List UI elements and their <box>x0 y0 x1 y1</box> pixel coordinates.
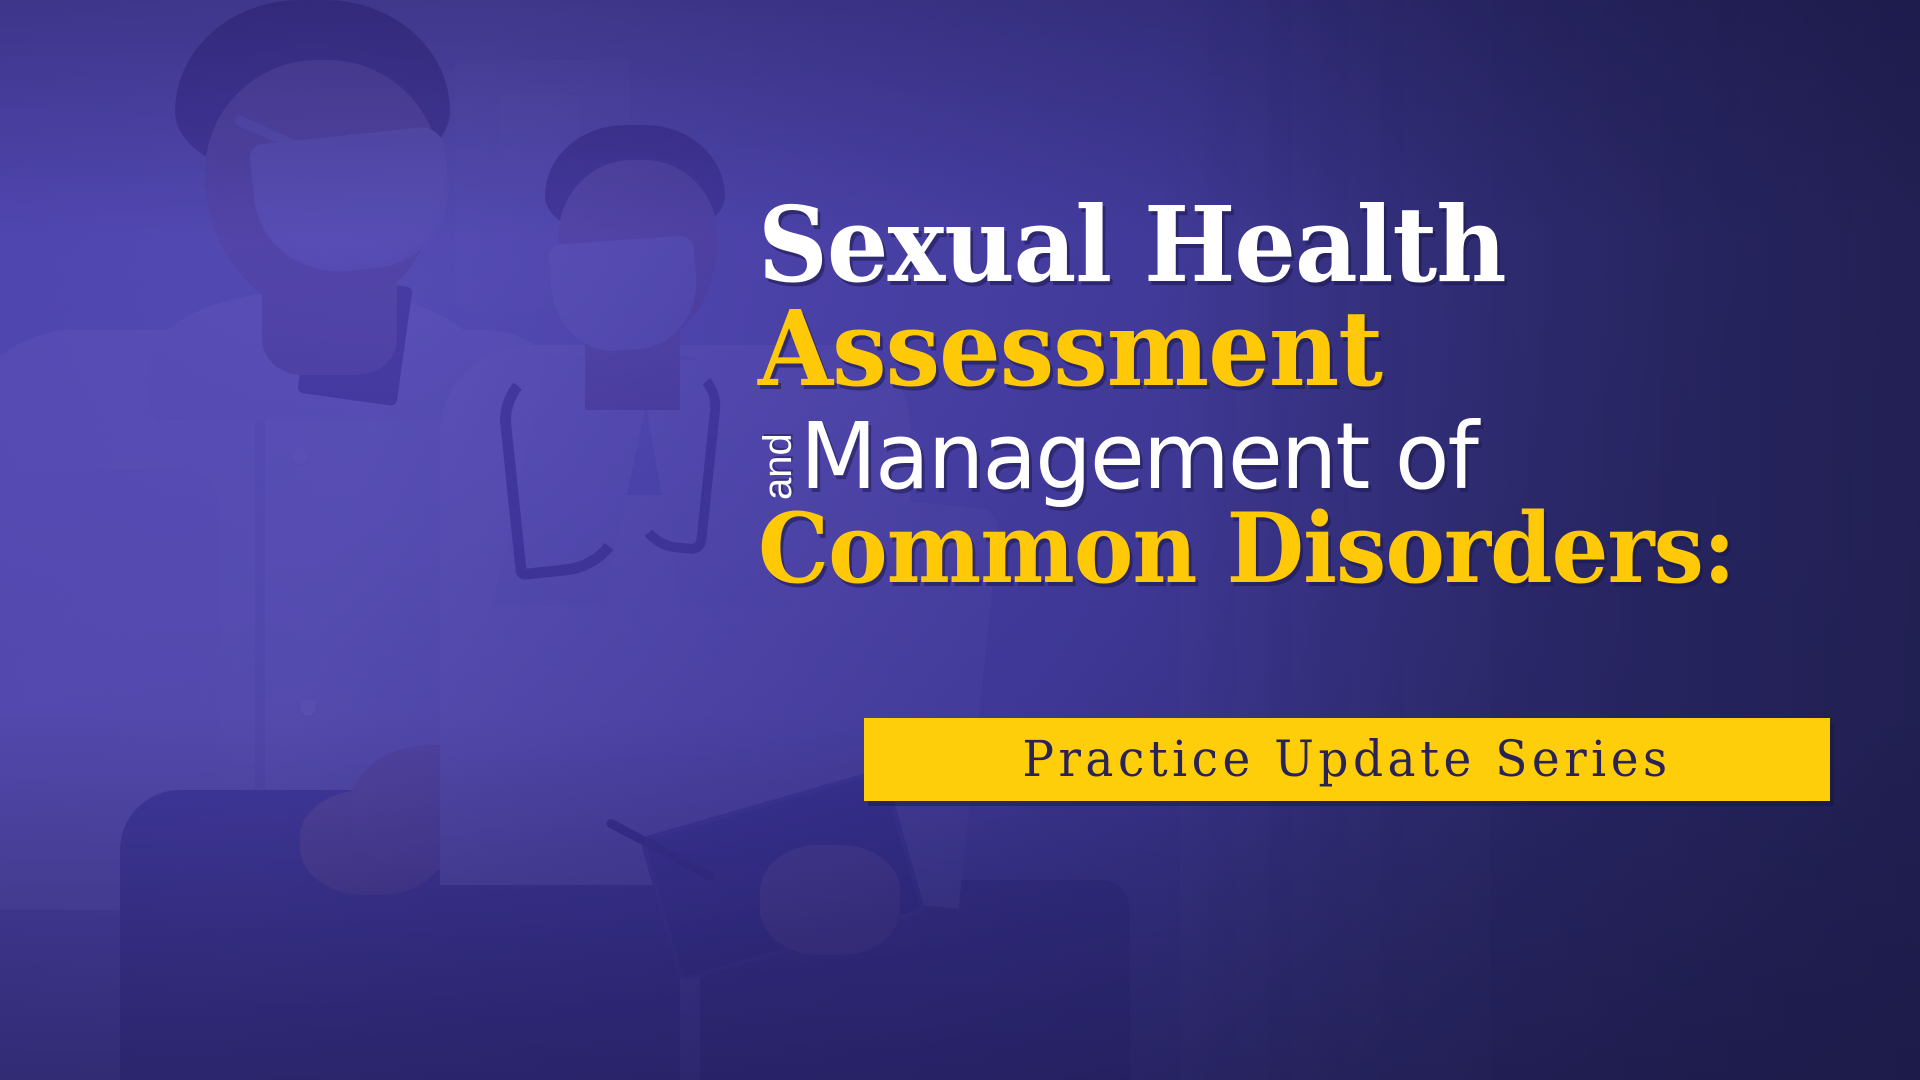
title-line-3-wrap: and Management of <box>758 404 1848 500</box>
subtitle-banner: Practice Update Series <box>864 718 1830 801</box>
title-line-1: Sexual Health <box>758 196 1772 294</box>
subtitle-banner-text: Practice Update Series <box>1022 731 1671 789</box>
title-and-vertical: and <box>758 408 798 500</box>
title-line-3: Management of <box>800 415 1477 500</box>
title-block: Sexual Health Assessment and Management … <box>758 196 1848 608</box>
title-line-4: Common Disorders: <box>758 504 1772 594</box>
title-card-stage: Sexual Health Assessment and Management … <box>0 0 1920 1080</box>
title-line-2: Assessment <box>758 300 1772 398</box>
